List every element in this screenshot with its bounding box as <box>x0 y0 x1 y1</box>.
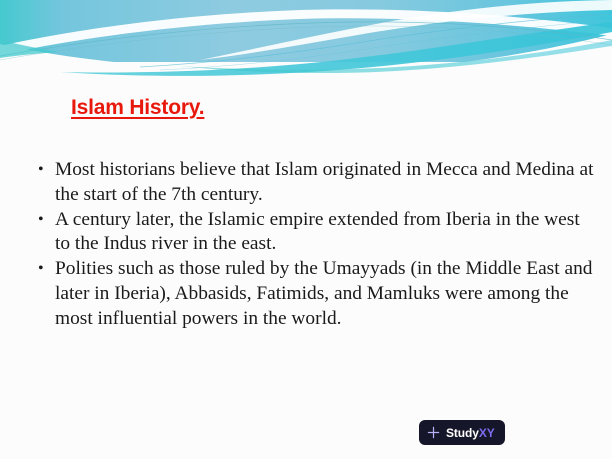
bullet-list: • Most historians believe that Islam ori… <box>33 158 599 332</box>
title-block: Islam History. <box>71 96 204 120</box>
brand-name-accent: XY <box>479 426 495 440</box>
list-item-text: A century later, the Islamic empire exte… <box>55 208 599 257</box>
list-item-text: Most historians believe that Islam origi… <box>55 158 599 207</box>
presentation-slide: Islam History. • Most historians believe… <box>0 0 612 459</box>
page-title: Islam History. <box>71 96 204 120</box>
bullet-marker-icon: • <box>33 208 55 233</box>
wave-ribbon-icon <box>0 0 612 80</box>
plus-icon <box>427 426 440 439</box>
bullet-marker-icon: • <box>33 257 55 282</box>
list-item-text: Polities such as those ruled by the Umay… <box>55 257 599 331</box>
studyxy-badge[interactable]: StudyXY <box>419 420 505 445</box>
studyxy-wordmark: StudyXY <box>446 427 495 439</box>
brand-name-primary: Study <box>446 426 479 440</box>
header-wave-decoration <box>0 0 612 80</box>
list-item: • Polities such as those ruled by the Um… <box>33 257 599 331</box>
bullet-marker-icon: • <box>33 158 55 183</box>
list-item: • Most historians believe that Islam ori… <box>33 158 599 207</box>
list-item: • A century later, the Islamic empire ex… <box>33 208 599 257</box>
